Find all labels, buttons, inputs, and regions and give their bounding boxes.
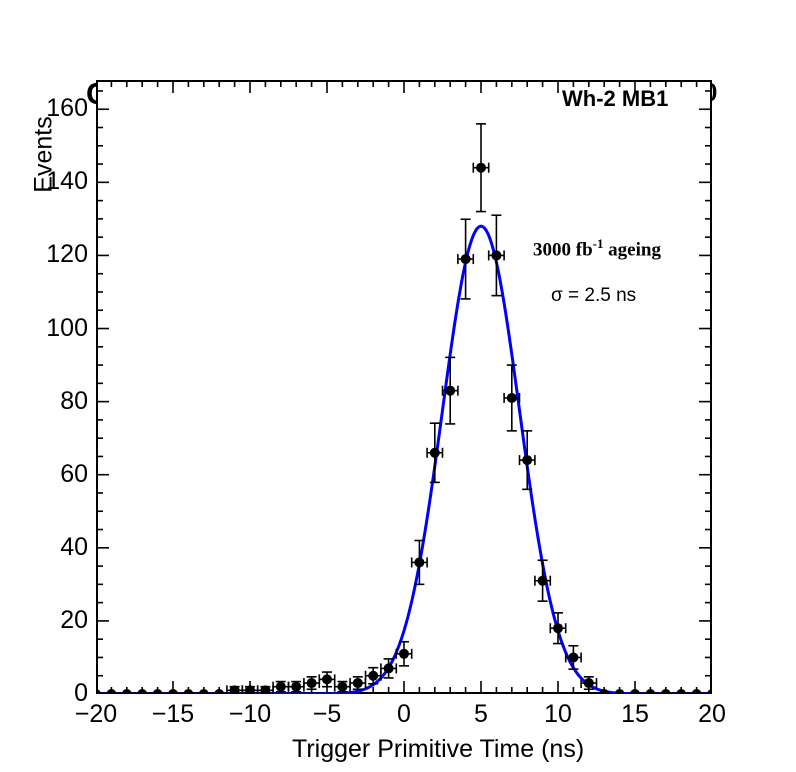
x-tick-label: 5 [446, 700, 516, 729]
y-tick-label: 60 [22, 460, 88, 489]
plot-header: CMS Phase-2 Simulation Preliminary PU 20… [0, 40, 796, 74]
luminosity-suffix: ageing [603, 239, 661, 260]
data-point [643, 689, 658, 694]
data-point [443, 357, 458, 424]
plot-area [96, 80, 712, 694]
y-tick-label: 100 [22, 314, 88, 343]
data-point [96, 689, 104, 694]
x-axis-title: Trigger Primitive Time (ns) [292, 735, 584, 764]
data-point [412, 541, 427, 585]
data-point [520, 431, 535, 489]
luminosity-value: 3000 fb [533, 239, 593, 260]
x-tick-label: −10 [215, 700, 285, 729]
data-point [150, 689, 165, 694]
data-point [319, 672, 334, 687]
y-tick-label: 120 [22, 240, 88, 269]
sigma-label: σ = 2.5 ns [551, 285, 636, 307]
data-point [196, 689, 211, 694]
x-tick-label: 15 [600, 700, 670, 729]
data-point [289, 682, 304, 692]
luminosity-exponent: -1 [593, 236, 604, 251]
data-point [658, 689, 673, 694]
x-tick-label: 20 [677, 700, 747, 729]
data-point [304, 677, 319, 689]
data-point [335, 682, 350, 692]
data-point [473, 124, 488, 212]
data-point [550, 613, 565, 644]
data-point [566, 646, 581, 669]
data-point [212, 689, 227, 694]
data-point [119, 689, 134, 694]
data-point [135, 689, 150, 694]
y-tick-label: 80 [22, 387, 88, 416]
plot-canvas: CMS Phase-2 Simulation Preliminary PU 20… [0, 0, 796, 772]
data-point [504, 365, 519, 431]
data-point [181, 689, 196, 694]
data-point [350, 677, 365, 689]
data-point [273, 682, 288, 692]
x-tick-label: 10 [523, 700, 593, 729]
y-tick-label: 0 [22, 679, 88, 708]
data-point [104, 689, 119, 694]
y-tick-label: 160 [22, 94, 88, 123]
x-tick-label: 0 [369, 700, 439, 729]
luminosity-label: 3000 fb-1 ageing [533, 236, 661, 261]
axis-ticks [96, 80, 712, 694]
data-point [674, 689, 689, 694]
data-point [689, 689, 704, 694]
x-tick-label: −5 [292, 700, 362, 729]
data-points [96, 124, 712, 694]
region-label: Wh-2 MB1 [562, 86, 668, 112]
data-point [704, 689, 712, 694]
data-point [627, 689, 642, 694]
y-tick-label: 20 [22, 606, 88, 635]
data-point [165, 689, 180, 694]
y-tick-label: 40 [22, 533, 88, 562]
x-tick-label: −15 [138, 700, 208, 729]
y-tick-label: 140 [22, 167, 88, 196]
